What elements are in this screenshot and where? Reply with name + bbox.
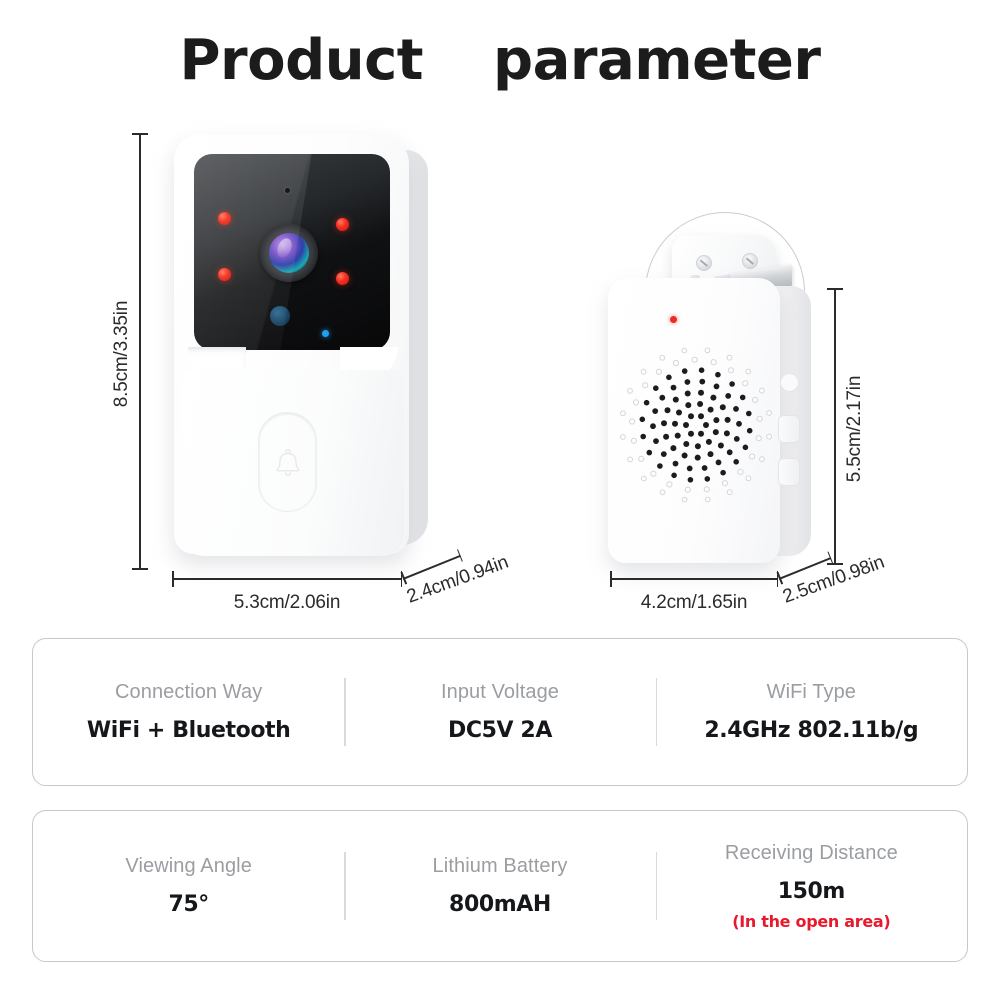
dimension-label-chime-width: 4.2cm/1.65in	[606, 592, 782, 614]
spec-label: Input Voltage	[441, 681, 559, 704]
microphone-hole-icon	[285, 188, 290, 193]
wireless-chime-receiver	[604, 278, 839, 573]
dimension-line-doorbell-height	[139, 133, 141, 570]
spec-value: 75°	[168, 892, 208, 917]
dimension-line-doorbell-width	[172, 578, 402, 580]
indicator-led-icon	[670, 316, 677, 323]
infrared-led-icon	[336, 218, 349, 231]
status-indicator-icon	[322, 330, 329, 337]
spec-value: WiFi + Bluetooth	[87, 718, 291, 743]
chime-round-button[interactable]	[780, 373, 799, 392]
infrared-led-icon	[218, 212, 231, 225]
dimension-line-chime-width	[610, 578, 778, 580]
chime-volume-button[interactable]	[778, 415, 800, 443]
camera-lens-icon	[260, 224, 318, 282]
spec-value: 800mAH	[449, 892, 551, 917]
screw-icon	[696, 255, 712, 271]
chime-front-body	[608, 278, 780, 563]
spec-cell-input-voltage: Input Voltage DC5V 2A	[344, 639, 655, 785]
product-image-stage: 8.5cm/3.35in 5.3cm/2.06in 2.4cm/0.94in 4…	[0, 100, 1000, 620]
speaker-grille-icon	[620, 340, 772, 510]
spec-note: (In the open area)	[732, 912, 890, 931]
spec-label: Connection Way	[115, 681, 262, 704]
dimension-label-chime-height: 5.5cm/2.17in	[844, 364, 866, 494]
spec-label: Receiving Distance	[725, 842, 898, 865]
spec-label: Viewing Angle	[125, 855, 252, 878]
spec-label: WiFi Type	[767, 681, 856, 704]
doorbell-front-body	[174, 134, 409, 554]
spec-cell-lithium-battery: Lithium Battery 800mAH	[344, 811, 655, 961]
spec-label: Lithium Battery	[433, 855, 568, 878]
doorbell-button[interactable]	[258, 412, 317, 512]
pir-sensor-icon	[270, 306, 290, 326]
dimension-line-chime-height	[834, 288, 836, 565]
chime-function-button[interactable]	[778, 458, 800, 486]
screw-icon	[742, 253, 758, 269]
dimension-label-doorbell-width: 5.3cm/2.06in	[172, 592, 402, 614]
spec-cell-wifi-type: WiFi Type 2.4GHz 802.11b/g	[656, 639, 967, 785]
page-title: Product parameter	[0, 28, 1000, 93]
infrared-led-icon	[218, 268, 231, 281]
spec-card-row-2: Viewing Angle 75° Lithium Battery 800mAH…	[32, 810, 968, 962]
bell-icon	[268, 442, 308, 482]
spec-cell-receiving-distance: Receiving Distance 150m (In the open are…	[656, 811, 967, 961]
spec-cell-connection-way: Connection Way WiFi + Bluetooth	[33, 639, 344, 785]
doorbell-lower-body	[182, 370, 404, 556]
spec-cell-viewing-angle: Viewing Angle 75°	[33, 811, 344, 961]
spec-value: DC5V 2A	[448, 718, 552, 743]
spec-value: 2.4GHz 802.11b/g	[704, 718, 918, 743]
doorbell-glass-panel	[194, 154, 390, 350]
dimension-label-doorbell-height: 8.5cm/3.35in	[111, 289, 133, 419]
video-doorbell-camera	[168, 120, 458, 575]
spec-value: 150m	[778, 879, 845, 904]
infrared-led-icon	[336, 272, 349, 285]
spec-card-row-1: Connection Way WiFi + Bluetooth Input Vo…	[32, 638, 968, 786]
